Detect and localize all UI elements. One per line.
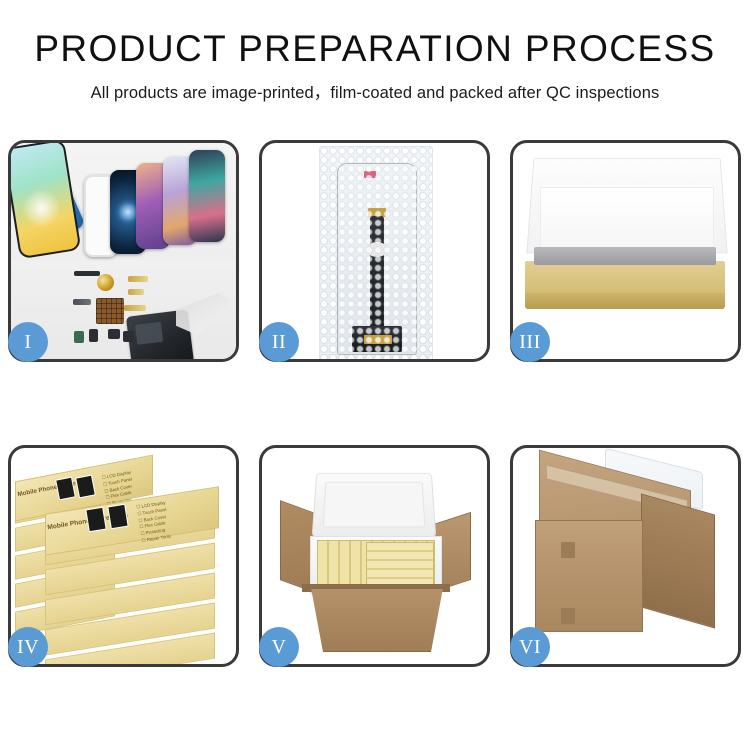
step-panel-4: Mobile Phone Spare Parts ☐ LCD Display☐ … (8, 445, 239, 667)
screen-connector-right (374, 335, 392, 344)
small-part-button (108, 329, 120, 339)
step-3-image (513, 143, 738, 359)
wrapped-screen-assembly (337, 163, 417, 355)
step-2-image (262, 143, 487, 359)
carton-mark-upper (561, 542, 575, 558)
styrofoam-lid (312, 473, 437, 538)
step-panel-1: I (8, 140, 239, 362)
page-title: PRODUCT PREPARATION PROCESS (0, 30, 750, 69)
page-subtitle: All products are image-printed，film-coat… (0, 79, 750, 103)
small-part-battery (74, 331, 84, 343)
step-badge-2: II (259, 322, 299, 362)
chip-grid-part (96, 298, 124, 324)
carton-side-face (641, 493, 715, 628)
carton-front-face (535, 520, 643, 632)
box-art-phone-front-1 (85, 507, 106, 533)
carton-front-wall (302, 588, 452, 652)
flex-cable-c (73, 299, 91, 305)
flex-cable-b (128, 289, 144, 295)
kraft-box-tray-side (525, 293, 725, 309)
carton-mark-lower (561, 608, 575, 624)
small-part-bracket (74, 271, 100, 276)
step-badge-5: V (259, 627, 299, 667)
step-badge-4: IV (8, 627, 48, 667)
step-panel-2: II (259, 140, 490, 362)
small-part-connector (89, 329, 98, 342)
process-steps-grid: I II III (8, 140, 742, 667)
box-checklist-front: ☐ LCD Display☐ Touch Panel☐ Back Cover☐ … (136, 500, 172, 545)
step-panel-3: III (510, 140, 741, 362)
step-badge-1: I (8, 322, 48, 362)
pink-label-tab (364, 171, 376, 178)
flex-cable-a (128, 276, 148, 282)
step-6-image (513, 448, 738, 664)
bubble-wrap-bag (319, 146, 433, 359)
step-panel-6: VI (510, 445, 741, 667)
box-art-phone-front-2 (107, 504, 128, 530)
flex-cable-d (124, 305, 146, 311)
speaker-coil-part (97, 274, 114, 291)
screen-flex-cable (370, 216, 384, 344)
packed-boxes-row-2 (366, 542, 434, 586)
box-stack: Mobile Phone Spare Parts ☐ LCD Display☐ … (13, 464, 236, 660)
step-4-image: Mobile Phone Spare Parts ☐ LCD Display☐ … (11, 448, 236, 664)
phone-display-teal (189, 150, 225, 242)
small-part-camera (123, 331, 134, 342)
step-1-image (11, 143, 236, 359)
page-header: PRODUCT PREPARATION PROCESS All products… (0, 0, 750, 103)
step-5-image (262, 448, 487, 664)
step-badge-3: III (510, 322, 550, 362)
step-badge-6: VI (510, 627, 550, 667)
step-panel-5: V (259, 445, 490, 667)
